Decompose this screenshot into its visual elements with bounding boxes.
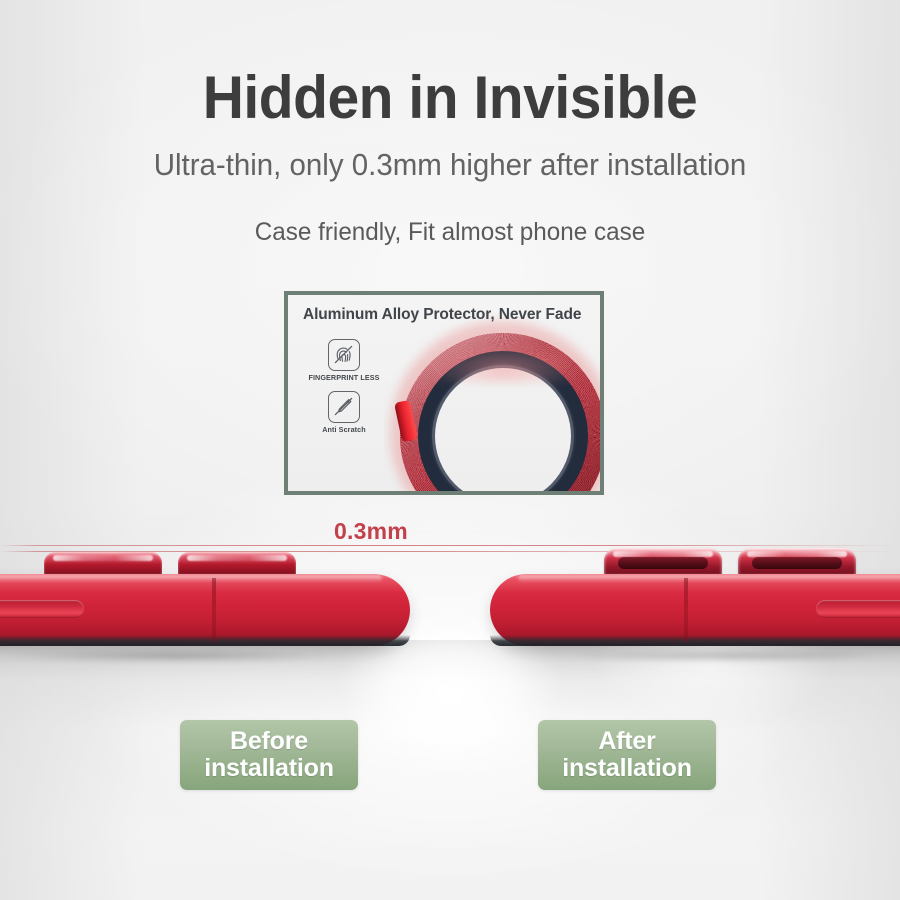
feature-label: Anti Scratch (302, 426, 386, 434)
page-tagline: Case friendly, Fit almost phone case (14, 219, 887, 247)
measurement-line-upper (0, 545, 900, 546)
caption-line-2: installation (562, 754, 692, 782)
caption-badge-before: Before installation (180, 720, 358, 790)
phone-before (0, 552, 410, 662)
feature-label: FINGERPRINT LESS (302, 374, 386, 382)
phone-edge-highlight (518, 575, 900, 582)
phone-antenna-seam (212, 578, 216, 642)
phone-side-button (0, 600, 84, 618)
phone-shadow (500, 648, 900, 664)
phone-after (490, 552, 900, 662)
feature-list: FINGERPRINT LESS Anti Scratch (302, 339, 386, 443)
caption-line-1: After (598, 727, 655, 755)
product-info-card: Aluminum Alloy Protector, Never Fade (284, 291, 604, 495)
scratch-no-icon (328, 391, 360, 423)
product-feature-banner: Hidden in Invisible Ultra-thin, only 0.3… (0, 0, 900, 900)
feature-anti-scratch: Anti Scratch (302, 391, 386, 434)
caption-badge-after: After installation (538, 720, 716, 790)
phone-side-button (816, 600, 900, 618)
caption-badge-text: Before installation (204, 728, 334, 782)
phone-edge-highlight (0, 575, 382, 582)
page-subtitle: Ultra-thin, only 0.3mm higher after inst… (23, 148, 878, 182)
phone-shadow (0, 648, 400, 664)
page-title: Hidden in Invisible (23, 68, 878, 128)
fingerprint-no-icon (328, 339, 360, 371)
caption-line-1: Before (230, 727, 308, 755)
lens-ring-product-photo (384, 313, 600, 491)
card-title: Aluminum Alloy Protector, Never Fade (303, 306, 581, 324)
caption-line-2: installation (204, 754, 334, 782)
product-info-card-inner: Aluminum Alloy Protector, Never Fade (288, 295, 600, 491)
caption-badge-text: After installation (562, 728, 692, 782)
measurement-label: 0.3mm (334, 518, 408, 545)
phone-antenna-seam (684, 578, 688, 642)
feature-fingerprint-less: FINGERPRINT LESS (302, 339, 386, 382)
